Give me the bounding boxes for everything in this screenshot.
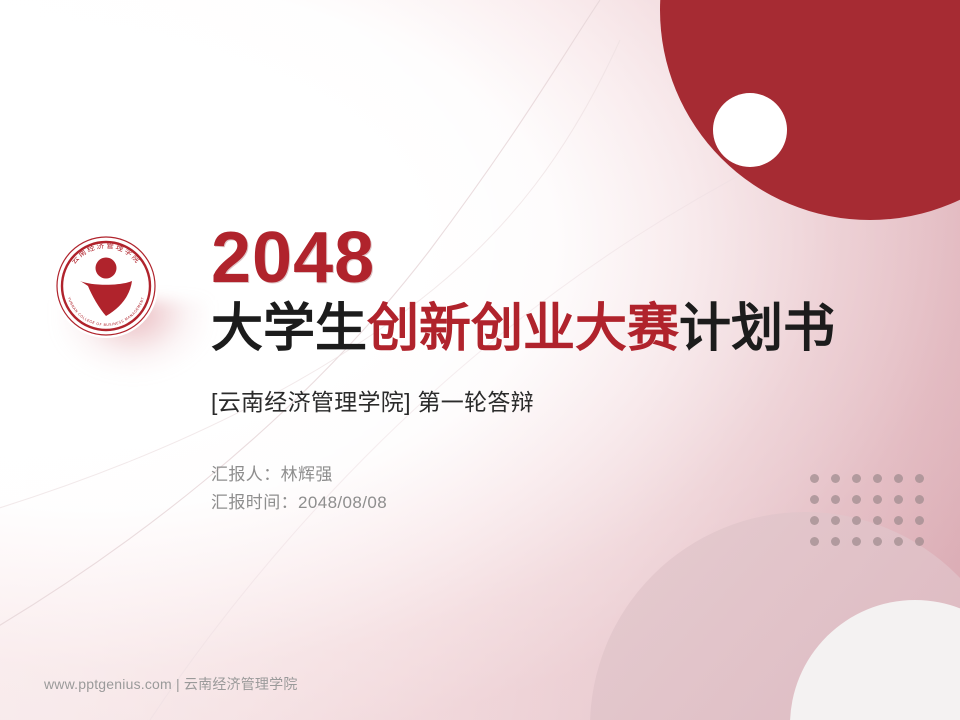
grid-dot: [915, 474, 924, 483]
year-heading: 2048: [211, 222, 911, 294]
grid-dot: [831, 537, 840, 546]
title-segment-red: 创新创业大赛: [367, 300, 679, 358]
grid-dot: [915, 537, 924, 546]
title-segment-dark-1: 大学生: [211, 300, 367, 358]
university-logo-icon: 云南经济管理学院 YUNNAN COLLEGE OF BUSINESS MANA…: [52, 232, 160, 340]
grid-dot: [873, 516, 882, 525]
footer-credit: www.pptgenius.com | 云南经济管理学院: [44, 674, 298, 694]
grid-dot: [873, 537, 882, 546]
grid-dot: [810, 537, 819, 546]
grid-dot: [831, 516, 840, 525]
presenter-line: 汇报人：林辉强: [211, 461, 911, 489]
grid-dot: [894, 537, 903, 546]
page-title: 大学生创新创业大赛计划书: [211, 300, 911, 358]
grid-dot: [915, 495, 924, 504]
grid-dot: [915, 516, 924, 525]
presentation-meta: 汇报人：林辉强 汇报时间：2048/08/08: [211, 461, 911, 517]
date-line: 汇报时间：2048/08/08: [211, 489, 911, 517]
grid-dot: [852, 516, 861, 525]
title-segment-dark-2: 计划书: [679, 300, 835, 358]
grid-dot: [810, 516, 819, 525]
grid-dot: [894, 516, 903, 525]
title-text-block: 2048 大学生创新创业大赛计划书 [云南经济管理学院] 第一轮答辩 汇报人：林…: [211, 222, 911, 517]
white-circle-top-right: [713, 93, 787, 167]
grid-dot: [852, 537, 861, 546]
presentation-slide: 云南经济管理学院 YUNNAN COLLEGE OF BUSINESS MANA…: [0, 0, 960, 720]
subtitle: [云南经济管理学院] 第一轮答辩: [211, 383, 911, 417]
